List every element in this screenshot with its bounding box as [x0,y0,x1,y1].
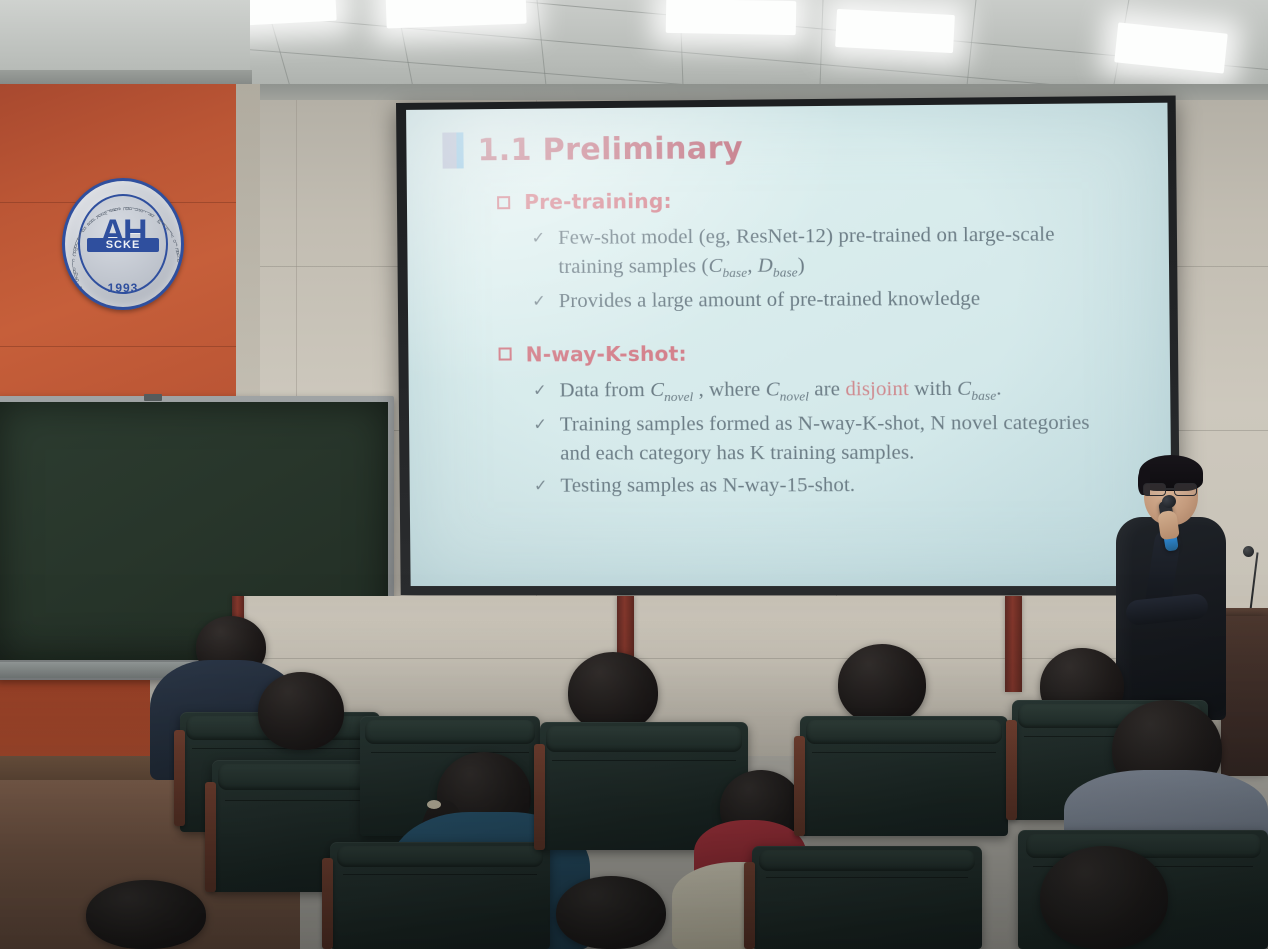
bullet-item: ✓ Testing samples as N-way-15-shot. [534,470,1145,501]
bullet-text: Provides a large amount of pre-trained k… [559,284,981,316]
audience-head [568,652,658,732]
bullet-item: ✓ Few-shot model (eg, ResNet-12) pre-tra… [531,220,1142,284]
seat-armrest [534,744,545,850]
gooseneck-mic-head [1243,546,1254,557]
audience-head [556,876,666,949]
title-accent-bar [442,132,463,168]
checkmark-icon: ✓ [531,224,545,250]
bullet-list: ✓ Few-shot model (eg, ResNet-12) pre-tra… [531,220,1142,317]
seat-armrest [205,782,216,892]
blackboard-clip [144,394,162,401]
checkmark-icon: ✓ [534,472,548,498]
bullet-text: Few-shot model (eg, ResNet-12) pre-train… [558,220,1055,284]
bullet-text: Data from Cnovel , where Cnovel are disj… [559,374,1001,407]
seat-armrest [1006,720,1017,820]
screen-surface: 1.1 Preliminary Pre-training: ✓ Few-shot… [406,103,1172,586]
section-heading-row: N-way-K-shot: [498,339,1143,366]
ceiling-light-panel [835,9,955,53]
checkmark-icon: ✓ [533,410,547,436]
screen-bezel: 1.1 Preliminary Pre-training: ✓ Few-shot… [396,96,1180,596]
stage-pillar [1005,596,1022,692]
slide-section-pre-training: Pre-training: ✓ Few-shot model (eg, ResN… [497,185,1143,316]
bullet-item: ✓ Training samples formed as N-way-K-sho… [533,408,1144,468]
highlighted-word: disjoint [845,378,909,400]
seat [800,716,1008,836]
square-bullet-icon [497,196,510,209]
seat [752,846,982,949]
emblem-ring-text: Key Laboratory of Symbolic Computation a… [65,195,184,310]
bullet-text: Testing samples as N-way-15-shot. [560,471,855,501]
bullet-list: ✓ Data from Cnovel , where Cnovel are di… [533,374,1145,501]
slide-title-row: 1.1 Preliminary [442,126,1141,168]
slide-title: 1.1 Preliminary [477,130,743,167]
slide-section-n-way-k-shot: N-way-K-shot: ✓ Data from Cnovel , where… [498,339,1144,500]
presenter [1108,455,1234,720]
presentation-slide: 1.1 Preliminary Pre-training: ✓ Few-shot… [406,103,1172,586]
section-heading-text: N-way-K-shot: [526,342,687,367]
bullet-item: ✓ Data from Cnovel , where Cnovel are di… [533,374,1144,407]
audience-head [1040,846,1168,949]
seat-armrest [174,730,185,826]
hair-tie [427,800,441,809]
bullet-text: Training samples formed as N-way-K-shot,… [560,408,1090,468]
square-bullet-icon [499,348,512,361]
seat [330,842,550,949]
lecture-hall-photo: AH SCKE 1993 Key Laboratory of Symbolic … [0,0,1268,949]
seat-armrest [744,862,755,949]
seat-armrest [322,858,333,949]
seat-armrest [794,736,805,836]
bullet-item: ✓ Provides a large amount of pre-trained… [532,283,1143,316]
ceiling-light-panel [666,0,797,35]
ceiling-light-panel [385,0,526,28]
projection-screen: 1.1 Preliminary Pre-training: ✓ Few-shot… [396,96,1180,596]
section-heading-row: Pre-training: [497,185,1142,214]
audience-head [258,672,344,750]
institution-emblem: AH SCKE 1993 Key Laboratory of Symbolic … [62,164,184,324]
audience-head [838,644,926,724]
checkmark-icon: ✓ [532,287,546,313]
audience-head [86,880,206,949]
glasses-icon [1141,483,1201,496]
section-heading-text: Pre-training: [524,189,672,214]
checkmark-icon: ✓ [533,376,547,402]
